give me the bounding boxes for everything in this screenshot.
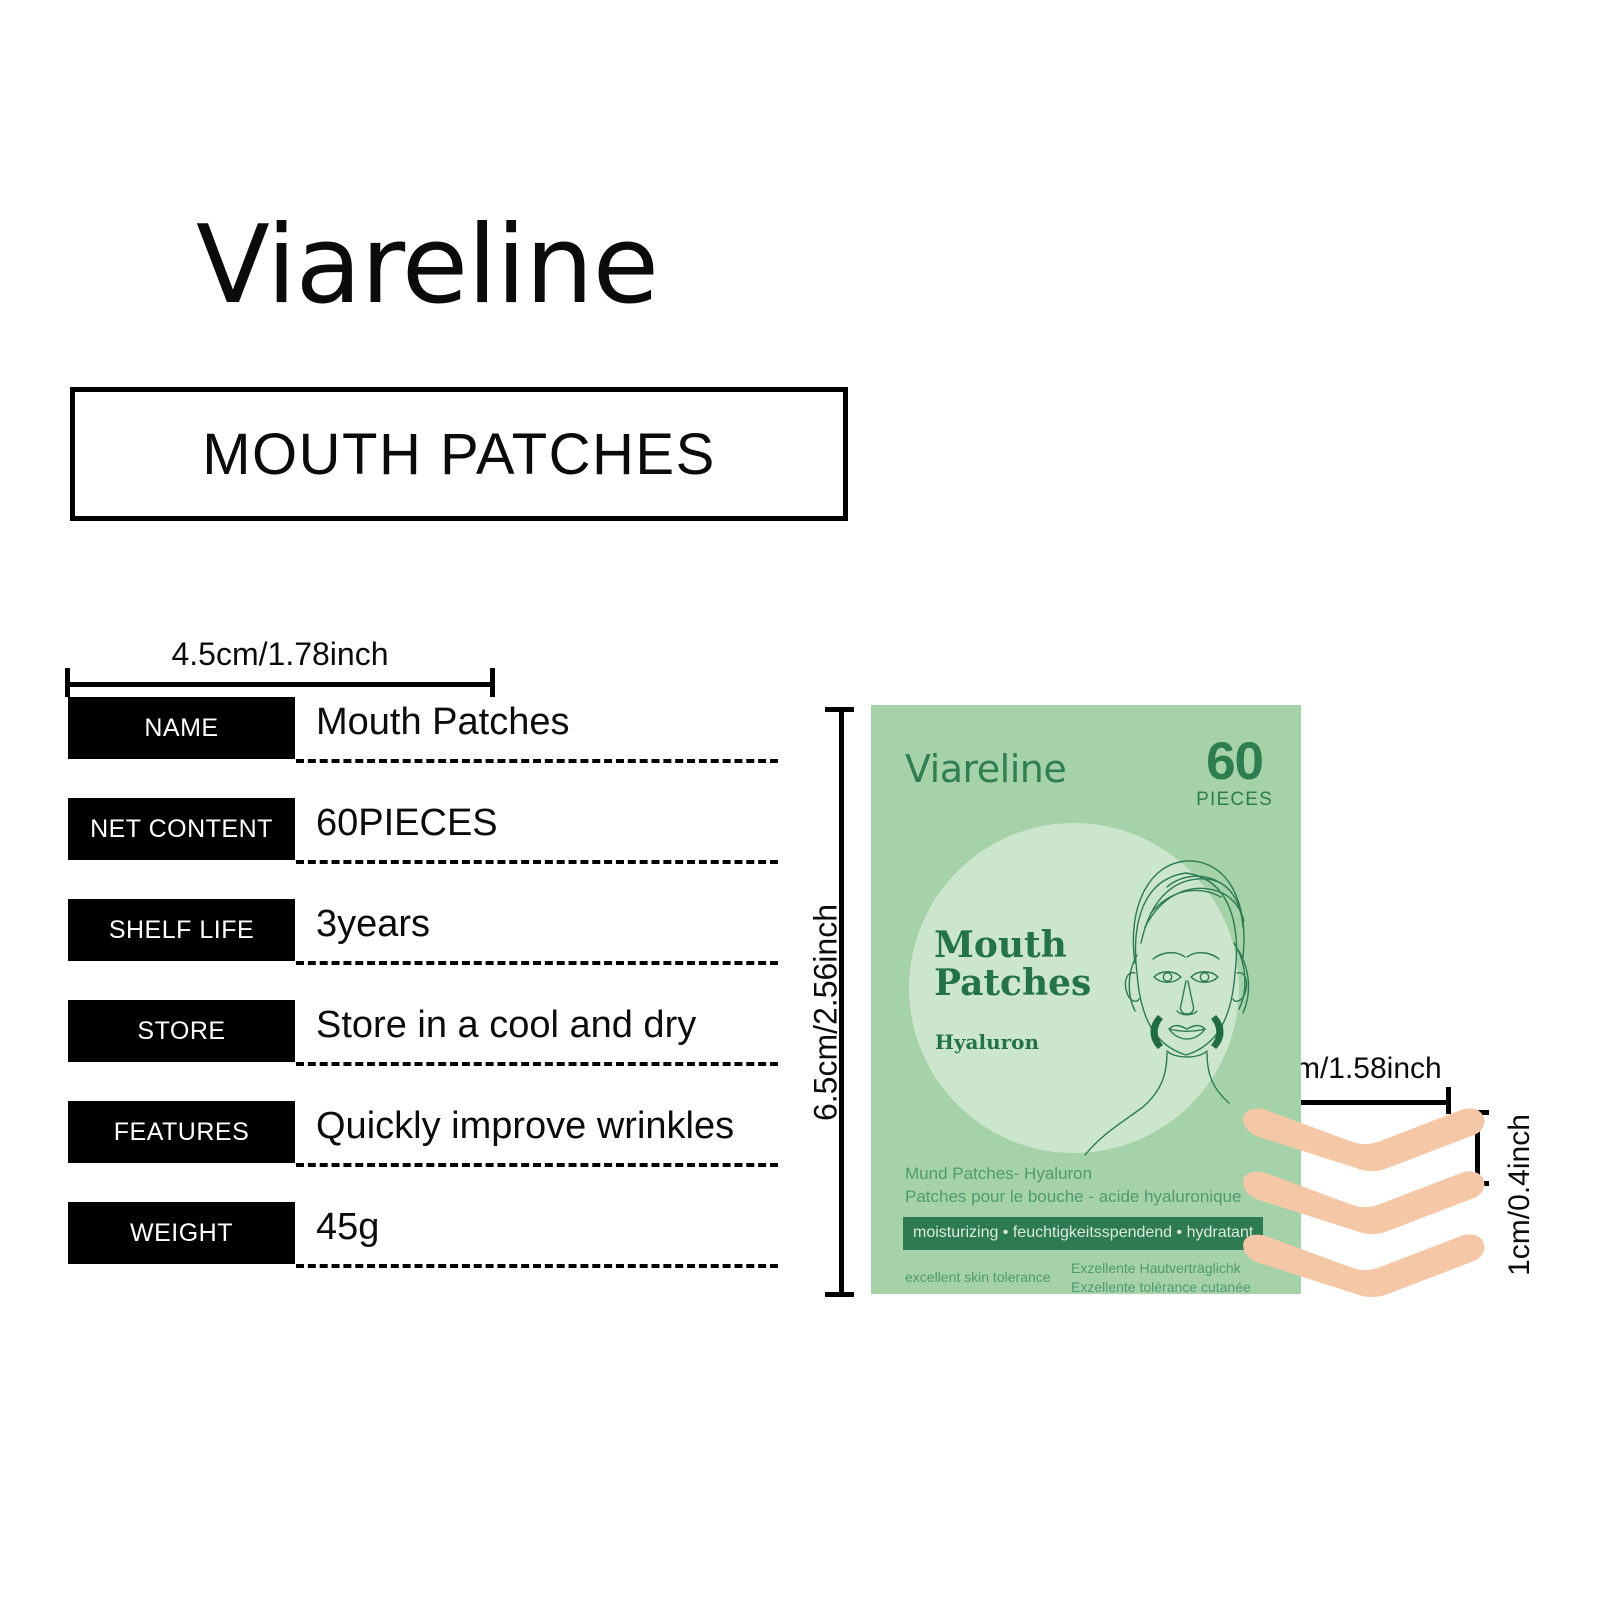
brand-title: Viareline xyxy=(196,212,658,320)
table-row: FEATURES Quickly improve wrinkles xyxy=(68,1101,778,1202)
spec-label-name: NAME xyxy=(68,697,295,759)
package-count-unit: PIECES xyxy=(1196,789,1273,811)
spec-table: NAME Mouth Patches NET CONTENT 60PIECES … xyxy=(68,697,778,1303)
spec-value-name: Mouth Patches xyxy=(316,701,569,744)
table-row: WEIGHT 45g xyxy=(68,1202,778,1303)
package-subheading: Hyaluron xyxy=(935,1030,1039,1054)
package-heading: Mouth Patches xyxy=(934,927,1091,1003)
package-heading-line1: Mouth xyxy=(934,927,1091,965)
product-package-image: Viareline 60 PIECES xyxy=(871,705,1301,1294)
spec-value-weight: 45g xyxy=(316,1206,379,1249)
spec-divider xyxy=(296,1062,778,1066)
dimension-label-package-width: 4.5cm/1.78inch xyxy=(65,636,495,673)
dimension-cap-top-icon xyxy=(825,707,854,712)
package-description-fr: Patches pour le bouche - acide hyaluroni… xyxy=(905,1186,1241,1209)
page-title: MOUTH PATCHES xyxy=(202,421,716,488)
package-brand-logo: Viareline xyxy=(905,747,1066,791)
package-heading-line2: Patches xyxy=(934,965,1091,1003)
patch-strip xyxy=(1238,1231,1488,1319)
package-footnote-group: Exzellente Hautverträglichk Exzellente t… xyxy=(1071,1259,1251,1294)
package-description-de: Mund Patches- Hyaluron xyxy=(905,1163,1241,1186)
spec-label-store: STORE xyxy=(68,1000,295,1062)
spec-value-store: Store in a cool and dry xyxy=(316,1004,696,1047)
spec-divider xyxy=(296,860,778,864)
spec-label-net-content: NET CONTENT xyxy=(68,798,295,860)
package-description: Mund Patches- Hyaluron Patches pour le b… xyxy=(905,1163,1241,1209)
package-footnote-de: Exzellente Hautverträglichk xyxy=(1071,1259,1251,1278)
spec-label-shelf-life: SHELF LIFE xyxy=(68,899,295,961)
spec-label-features: FEATURES xyxy=(68,1101,295,1163)
dimension-cap-bottom-icon xyxy=(825,1292,854,1297)
dimension-line-package-height xyxy=(839,707,844,1297)
package-count-number: 60 xyxy=(1196,737,1273,787)
table-row: NET CONTENT 60PIECES xyxy=(68,798,778,899)
table-row: STORE Store in a cool and dry xyxy=(68,1000,778,1101)
product-title-box: MOUTH PATCHES xyxy=(70,387,848,521)
spec-value-features: Quickly improve wrinkles xyxy=(316,1105,734,1148)
spec-divider xyxy=(296,961,778,965)
dimension-line-package-width xyxy=(65,682,495,687)
package-piece-count: 60 PIECES xyxy=(1196,737,1273,811)
dimension-cap-right-icon xyxy=(490,668,495,697)
spec-value-net-content: 60PIECES xyxy=(316,802,498,845)
spec-divider xyxy=(296,1264,778,1268)
table-row: NAME Mouth Patches xyxy=(68,697,778,798)
spec-value-shelf-life: 3years xyxy=(316,903,430,946)
dimension-cap-left-icon xyxy=(65,668,70,697)
spec-divider xyxy=(296,759,778,763)
dimension-label-patch-height: 1cm/0.4inch xyxy=(1503,1075,1537,1315)
package-footnote-fr: Exzellente tolérance cutanée xyxy=(1071,1278,1251,1294)
table-row: SHELF LIFE 3years xyxy=(68,899,778,1000)
spec-label-weight: WEIGHT xyxy=(68,1202,295,1264)
package-footnote-en: excellent skin tolerance xyxy=(905,1269,1051,1285)
spec-divider xyxy=(296,1163,778,1167)
package-claim-banner: moisturizing • feuchtigkeitsspendend • h… xyxy=(903,1217,1263,1250)
